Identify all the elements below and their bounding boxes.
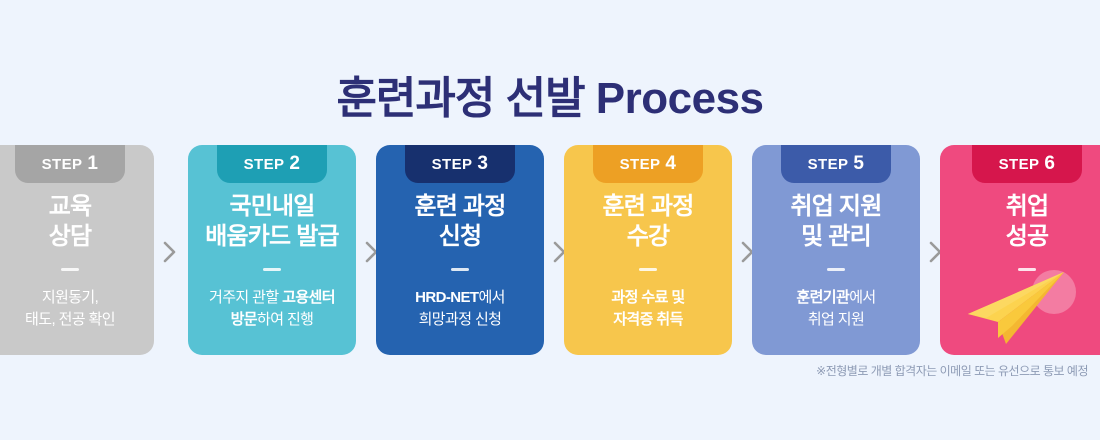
step-badge-4: STEP4 xyxy=(593,145,703,183)
step-body-line1: 거주지 관할 고용센터 xyxy=(188,287,356,309)
page-title: 훈련과정 선발 Process xyxy=(0,62,1100,126)
step-badge-word: STEP xyxy=(244,156,285,173)
step-badge-number: 4 xyxy=(665,153,676,175)
step-badge-word: STEP xyxy=(620,156,661,173)
step-heading-1: 교육 상담 xyxy=(0,192,154,252)
step-body-line2: 취업 지원 xyxy=(752,309,920,331)
step-badge-word: STEP xyxy=(432,156,473,173)
step-badge-3: STEP3 xyxy=(405,145,515,183)
step-card-3[interactable]: STEP3훈련 과정 신청HRD-NET에서희망과정 신청 xyxy=(376,145,544,355)
step-badge-word: STEP xyxy=(999,156,1040,173)
step-badge-5: STEP5 xyxy=(781,145,891,183)
step-badge-1: STEP1 xyxy=(15,145,125,183)
step-badge-number: 2 xyxy=(289,153,300,175)
step-badge-6: STEP6 xyxy=(972,145,1082,183)
step-card-5[interactable]: STEP5취업 지원 및 관리훈련기관에서취업 지원 xyxy=(752,145,920,355)
step-heading-4: 훈련 과정 수강 xyxy=(564,192,732,252)
step-body-3: HRD-NET에서희망과정 신청 xyxy=(376,287,544,331)
step-heading-3: 훈련 과정 신청 xyxy=(376,192,544,252)
step-divider xyxy=(61,268,79,271)
step-body-2: 거주지 관할 고용센터방문하여 진행 xyxy=(188,287,356,331)
step-body-line1: 지원동기, xyxy=(0,287,154,309)
step-body-line1: 과정 수료 및 xyxy=(564,287,732,309)
page-title-english: Process xyxy=(596,74,764,123)
process-steps-row: STEP1교육 상담지원동기,태도, 전공 확인STEP2국민내일 배움카드 발… xyxy=(0,145,1100,355)
step-body-line1: 훈련기관에서 xyxy=(752,287,920,309)
step-badge-word: STEP xyxy=(42,156,83,173)
step-divider xyxy=(451,268,469,271)
step-card-2[interactable]: STEP2국민내일 배움카드 발급거주지 관할 고용센터방문하여 진행 xyxy=(188,145,356,355)
step-divider xyxy=(639,268,657,271)
step-body-1: 지원동기,태도, 전공 확인 xyxy=(0,287,154,331)
step-body-line2: 자격증 취득 xyxy=(564,309,732,331)
step-badge-number: 1 xyxy=(87,153,98,175)
step-body-5: 훈련기관에서취업 지원 xyxy=(752,287,920,331)
page-title-korean: 훈련과정 선발 xyxy=(336,74,595,123)
step-heading-5: 취업 지원 및 관리 xyxy=(752,192,920,252)
chevron-right-icon xyxy=(159,239,181,265)
footnote-note: ※전형별로 개별 합격자는 이메일 또는 유선으로 통보 예정 xyxy=(816,362,1088,379)
step-badge-number: 6 xyxy=(1044,153,1055,175)
step-divider xyxy=(263,268,281,271)
step-body-4: 과정 수료 및자격증 취득 xyxy=(564,287,732,331)
step-heading-2: 국민내일 배움카드 발급 xyxy=(188,192,356,252)
success-illustration xyxy=(960,268,1090,358)
step-badge-word: STEP xyxy=(808,156,849,173)
step-badge-number: 5 xyxy=(853,153,864,175)
step-card-4[interactable]: STEP4훈련 과정 수강과정 수료 및자격증 취득 xyxy=(564,145,732,355)
step-badge-number: 3 xyxy=(477,153,488,175)
step-body-line2: 희망과정 신청 xyxy=(376,309,544,331)
step-badge-2: STEP2 xyxy=(217,145,327,183)
step-body-line2: 태도, 전공 확인 xyxy=(0,309,154,331)
step-body-line2: 방문하여 진행 xyxy=(188,309,356,331)
step-heading-6: 취업 성공 xyxy=(940,192,1100,252)
step-body-line1: HRD-NET에서 xyxy=(376,287,544,309)
step-divider xyxy=(827,268,845,271)
step-card-1[interactable]: STEP1교육 상담지원동기,태도, 전공 확인 xyxy=(0,145,154,355)
paper-plane-icon xyxy=(960,268,1072,353)
